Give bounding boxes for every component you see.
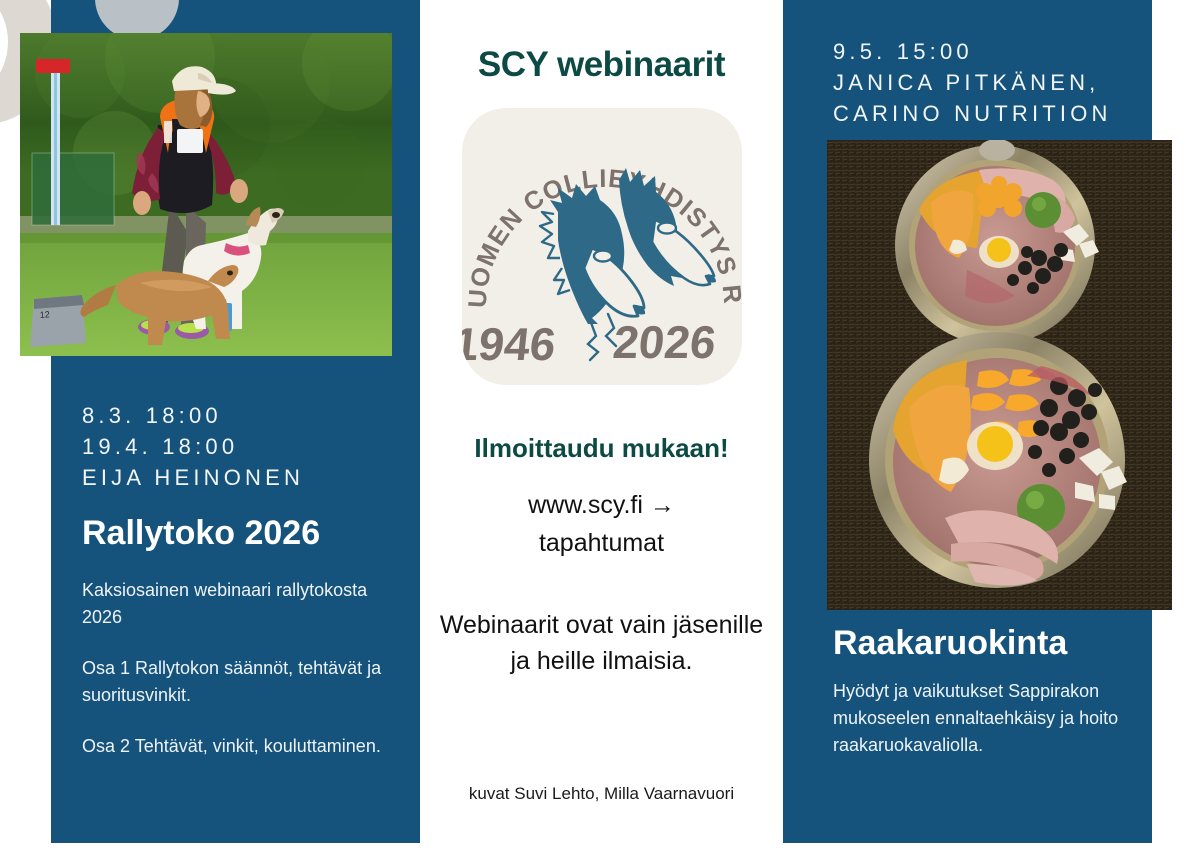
raw-food-photo: [827, 140, 1172, 610]
right-paragraph: Hyödyt ja vaikutukset Sappirakon mukosee…: [833, 678, 1163, 759]
right-headline: Raakaruokinta: [833, 622, 1163, 664]
website-url-line-2: tapahtumat: [539, 529, 664, 557]
svg-text:2026: 2026: [610, 316, 718, 368]
svg-text:1946: 1946: [462, 318, 558, 370]
left-date-line-2: 19.4. 18:00: [82, 431, 412, 462]
left-presenter: EIJA HEINONEN: [82, 462, 412, 493]
right-presenter-line-2: CARINO NUTRITION: [833, 98, 1163, 129]
website-url[interactable]: www.scy.fi → tapahtumat: [528, 486, 675, 562]
right-content: Raakaruokinta Hyödyt ja vaikutukset Sapp…: [833, 622, 1163, 759]
rally-photo: 12: [20, 33, 392, 356]
right-date-line: 9.5. 15:00: [833, 36, 1163, 67]
center-column: SCY webinaarit SUOMEN COLLIEYHDISTYS RY: [420, 0, 783, 848]
right-presenter-line-1: JANICA PITKÄNEN,: [833, 67, 1163, 98]
website-url-line-1: www.scy.fi →: [528, 491, 675, 519]
register-call-to-action: Ilmoittaudu mukaan!: [474, 433, 728, 464]
left-paragraph-1: Kaksiosainen webinaari rallytokosta 2026: [82, 577, 412, 631]
svg-text:12: 12: [39, 309, 50, 320]
poster-canvas: 12: [0, 0, 1200, 848]
left-paragraph-3: Osa 2 Tehtävät, vinkit, kouluttaminen.: [82, 733, 412, 760]
page-title: SCY webinaarit: [478, 45, 725, 85]
association-logo: SUOMEN COLLIEYHDISTYS RY: [462, 108, 742, 385]
left-content: 8.3. 18:00 19.4. 18:00 EIJA HEINONEN Ral…: [82, 400, 412, 760]
right-header: 9.5. 15:00 JANICA PITKÄNEN, CARINO NUTRI…: [833, 36, 1163, 129]
left-date-line-1: 8.3. 18:00: [82, 400, 412, 431]
left-headline: Rallytoko 2026: [82, 513, 412, 553]
membership-notice: Webinaarit ovat vain jäsenille ja heille…: [437, 607, 767, 679]
photo-credits: kuvat Suvi Lehto, Milla Vaarnavuori: [420, 784, 783, 804]
left-paragraph-2: Osa 1 Rallytokon säännöt, tehtävät ja su…: [82, 655, 412, 709]
